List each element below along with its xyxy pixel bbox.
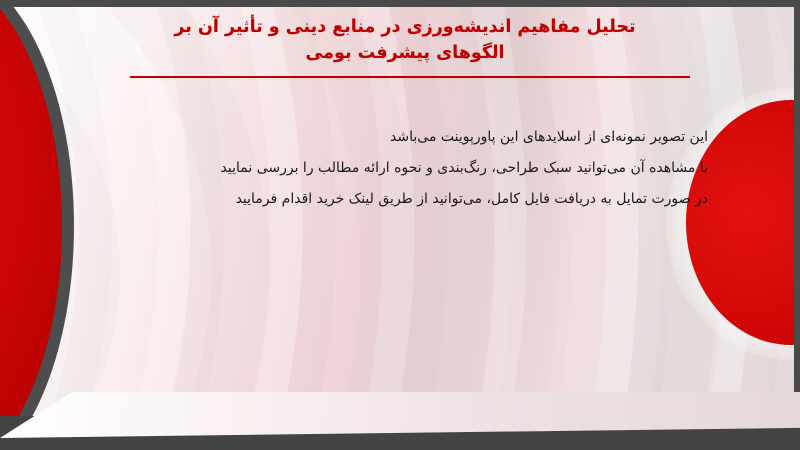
- body-line-2: با مشاهده آن می‌توانید سبک طراحی، رنگ‌بن…: [108, 153, 708, 184]
- title-underline-rule: [130, 76, 690, 78]
- dark-bar-top: [0, 0, 800, 7]
- title-line-2: الگوهای پیشرفت بومی: [110, 40, 700, 66]
- body-line-1: این تصویر نمونه‌ای از اسلایدهای این پاور…: [108, 122, 708, 153]
- body-line-3: در صورت تمایل به دریافت فایل کامل، می‌تو…: [108, 184, 708, 215]
- slide-background: [0, 0, 800, 450]
- slide-body-text: این تصویر نمونه‌ای از اسلایدهای این پاور…: [108, 122, 708, 215]
- page-title: تحلیل مفاهیم اندیشه‌ورزی در منابع دینی و…: [110, 14, 700, 66]
- title-line-1: تحلیل مفاهیم اندیشه‌ورزی در منابع دینی و…: [110, 14, 700, 40]
- presentation-slide: تحلیل مفاهیم اندیشه‌ورزی در منابع دینی و…: [0, 0, 800, 450]
- dark-bar-right: [794, 0, 800, 450]
